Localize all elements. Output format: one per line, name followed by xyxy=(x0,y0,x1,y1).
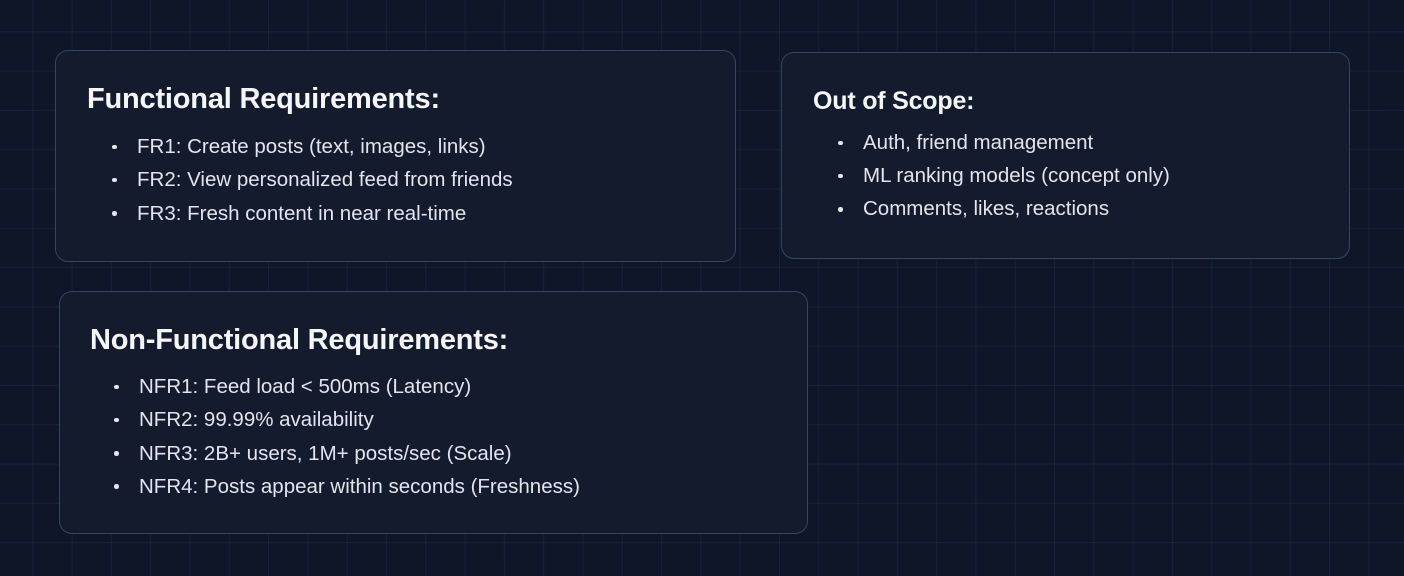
non-functional-requirements-list: NFR1: Feed load < 500ms (Latency) NFR2: … xyxy=(113,370,580,503)
requirements-slide: Functional Requirements: FR1: Create pos… xyxy=(0,0,1404,576)
list-item: NFR2: 99.99% availability xyxy=(113,403,580,436)
functional-requirements-list: FR1: Create posts (text, images, links) … xyxy=(111,130,513,230)
list-item: Comments, likes, reactions xyxy=(837,192,1170,225)
functional-requirements-title: Functional Requirements: xyxy=(87,82,440,116)
out-of-scope-list: Auth, friend management ML ranking model… xyxy=(837,126,1170,226)
functional-requirements-card: Functional Requirements: FR1: Create pos… xyxy=(55,50,736,262)
list-item: NFR3: 2B+ users, 1M+ posts/sec (Scale) xyxy=(113,437,580,470)
list-item: NFR4: Posts appear within seconds (Fresh… xyxy=(113,470,580,503)
list-item: FR2: View personalized feed from friends xyxy=(111,163,513,196)
list-item: NFR1: Feed load < 500ms (Latency) xyxy=(113,370,580,403)
list-item: FR1: Create posts (text, images, links) xyxy=(111,130,513,163)
out-of-scope-card: Out of Scope: Auth, friend management ML… xyxy=(781,52,1350,259)
non-functional-requirements-card: Non-Functional Requirements: NFR1: Feed … xyxy=(59,291,808,534)
out-of-scope-title: Out of Scope: xyxy=(813,86,974,116)
non-functional-requirements-title: Non-Functional Requirements: xyxy=(90,323,508,357)
list-item: Auth, friend management xyxy=(837,126,1170,159)
list-item: FR3: Fresh content in near real-time xyxy=(111,197,513,230)
list-item: ML ranking models (concept only) xyxy=(837,159,1170,192)
